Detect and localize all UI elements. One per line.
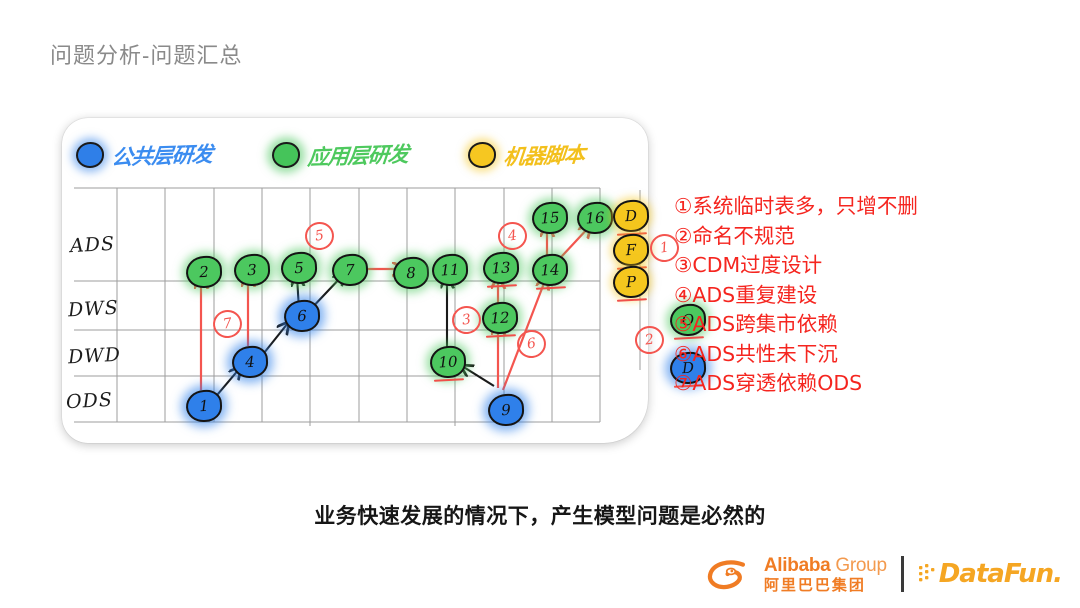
legend-dot-yellow-icon xyxy=(468,142,496,168)
issue-list: ①系统临时表多，只增不删 ②命名不规范 ③CDM过度设计 ④ADS重复建设 ⑤A… xyxy=(674,192,1034,399)
footer-divider xyxy=(901,556,904,592)
page-title: 问题分析-问题汇总 xyxy=(50,38,242,70)
legend-dot-green-icon xyxy=(272,142,300,168)
issue-item-1: ①系统临时表多，只增不删 xyxy=(674,192,1034,222)
caption-text: 业务快速发展的情况下，产生模型问题是必然的 xyxy=(0,500,1080,530)
legend-label-yellow: 机器脚本 xyxy=(503,139,586,172)
legend-dot-blue-icon xyxy=(76,142,104,168)
alibaba-wordmark: Alibaba Group 阿里巴巴集团 xyxy=(764,556,887,593)
alibaba-en: Alibaba Group xyxy=(764,556,887,575)
row-label-ads: ADS xyxy=(69,233,115,257)
footer-logos: Alibaba Group 阿里巴巴集团 DataFun. xyxy=(705,552,1062,596)
issue-item-3: ③CDM过度设计 xyxy=(674,251,1034,281)
issue-item-7: ⑦ADS穿透依赖ODS xyxy=(674,369,1034,399)
datafun-dots-icon xyxy=(918,563,938,585)
datafun-logo: DataFun. xyxy=(918,559,1062,589)
issue-item-6: ⑥ADS共性未下沉 xyxy=(674,340,1034,370)
issue-item-4: ④ADS重复建设 xyxy=(674,281,1034,311)
whiteboard-panel: 公共层研发 应用层研发 机器脚本 ADS DWS DWD ODS 1 4 2 3… xyxy=(62,118,648,443)
legend: 公共层研发 应用层研发 机器脚本 xyxy=(76,140,636,180)
datafun-wordmark: DataFun. xyxy=(939,559,1062,589)
legend-item-blue: 公共层研发 xyxy=(76,140,212,170)
issue-item-2: ②命名不规范 xyxy=(674,222,1034,252)
alibaba-cn: 阿里巴巴集团 xyxy=(764,578,887,593)
legend-item-yellow: 机器脚本 xyxy=(468,140,584,170)
alibaba-logo-icon xyxy=(705,557,757,591)
row-label-ods: ODS xyxy=(65,389,113,413)
legend-item-green: 应用层研发 xyxy=(272,140,408,170)
row-label-dws: DWS xyxy=(67,297,119,322)
row-label-dwd: DWD xyxy=(67,344,121,369)
issue-item-5: ⑤ADS跨集市依赖 xyxy=(674,310,1034,340)
legend-label-blue: 公共层研发 xyxy=(110,138,213,171)
legend-label-green: 应用层研发 xyxy=(306,138,409,171)
